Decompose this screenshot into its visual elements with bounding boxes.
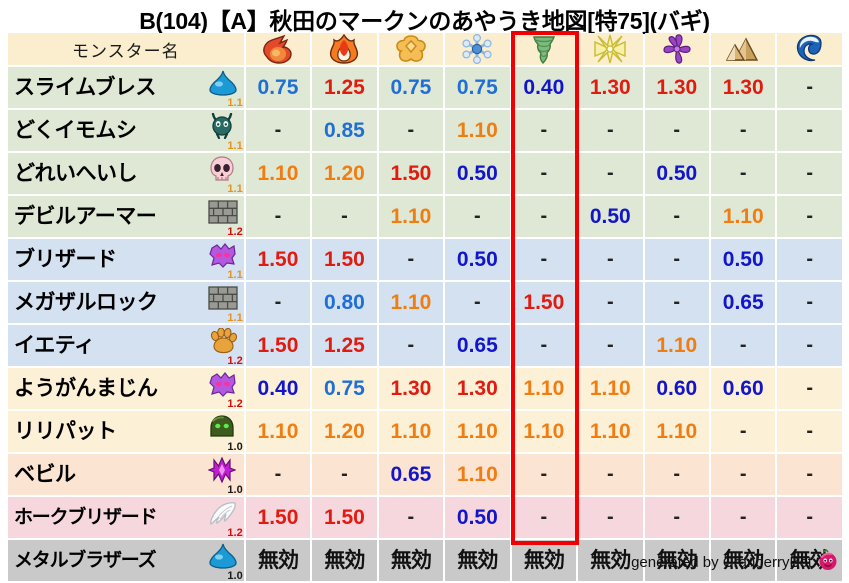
monster-name-label: イエティ	[14, 325, 95, 366]
column-header-jibaria[interactable]	[711, 33, 775, 65]
resistance-cell[interactable]: -	[578, 110, 642, 151]
resistance-cell[interactable]: 1.30	[578, 67, 642, 108]
table-row: ベビル1.0--0.651.10-----	[8, 454, 842, 495]
column-header-bagi[interactable]	[512, 33, 576, 65]
resistance-cell[interactable]: 1.10	[445, 110, 509, 151]
resistance-cell[interactable]: 1.30	[645, 67, 709, 108]
monster-family-icon-wrap: 1.0	[204, 542, 244, 580]
flame-icon	[312, 34, 376, 64]
monster-multiplier: 1.0	[227, 485, 242, 496]
monster-name-label: どれいへいし	[14, 153, 137, 194]
table-row: デビルアーマー1.2--1.10--0.50-1.10-	[8, 196, 842, 237]
resistance-cell[interactable]: 0.60	[645, 368, 709, 409]
resistance-cell[interactable]: 0.50	[578, 196, 642, 237]
resistance-cell[interactable]: -	[246, 454, 310, 495]
resistance-cell[interactable]: 0.75	[246, 67, 310, 108]
resistance-cell[interactable]: -	[578, 325, 642, 366]
monster-family-icon-wrap: 1.1	[204, 69, 244, 107]
resistance-cell[interactable]: -	[645, 454, 709, 495]
resistance-cell[interactable]: 0.65	[711, 282, 775, 323]
explosion-icon	[379, 34, 443, 64]
resistance-cell[interactable]: 0.50	[445, 153, 509, 194]
monster-name-cell[interactable]: イエティ1.2	[8, 325, 244, 366]
monster-name-cell[interactable]: ベビル1.0	[8, 454, 244, 495]
monster-multiplier: 1.2	[227, 227, 242, 238]
monster-name-label: デビルアーマー	[14, 196, 156, 237]
resistance-cell[interactable]: 0.50	[645, 153, 709, 194]
resistance-cell[interactable]: 0.75	[379, 67, 443, 108]
resistance-cell[interactable]: 1.10	[379, 411, 443, 452]
monster-name-label: リリパット	[14, 411, 117, 452]
resistance-cell[interactable]: -	[777, 110, 842, 151]
monster-name-cell[interactable]: スライムブレス1.1	[8, 67, 244, 108]
fireball-icon	[246, 34, 310, 64]
monster-name-label: ようがんまじん	[14, 368, 158, 409]
monster-name-cell[interactable]: ようがんまじん1.2	[8, 368, 244, 409]
resistance-cell[interactable]: -	[578, 282, 642, 323]
column-header-io[interactable]	[379, 33, 443, 65]
resistance-cell[interactable]: 1.50	[246, 497, 310, 538]
resistance-cell[interactable]: 無効	[445, 540, 509, 581]
monster-multiplier: 1.1	[227, 141, 242, 152]
resistance-cell[interactable]: -	[512, 325, 576, 366]
monster-name-label: ベビル	[14, 454, 76, 495]
resistance-cell[interactable]: 1.20	[312, 411, 376, 452]
snowflake-icon	[445, 34, 509, 64]
table-row: メガザルロック1.1-0.801.10-1.50--0.65-	[8, 282, 842, 323]
resistance-cell[interactable]: 1.50	[379, 153, 443, 194]
resistance-cell[interactable]: -	[445, 196, 509, 237]
resistance-cell[interactable]: -	[777, 325, 842, 366]
monster-name-cell[interactable]: どれいへいし1.1	[8, 153, 244, 194]
monster-family-icon-wrap: 1.2	[204, 499, 244, 537]
resistance-cell[interactable]: -	[512, 454, 576, 495]
resistance-cell[interactable]: 1.20	[312, 153, 376, 194]
resistance-cell[interactable]: -	[379, 497, 443, 538]
column-header-mera[interactable]	[246, 33, 310, 65]
resistance-cell[interactable]: -	[379, 110, 443, 151]
column-header-dein[interactable]	[578, 33, 642, 65]
table-row: イエティ1.21.501.25-0.65--1.10--	[8, 325, 842, 366]
resistance-cell[interactable]: -	[246, 110, 310, 151]
resistance-cell[interactable]: 0.50	[445, 239, 509, 280]
resistance-cell[interactable]: -	[645, 110, 709, 151]
resistance-cell[interactable]: -	[777, 497, 842, 538]
resistance-cell[interactable]: 1.10	[512, 411, 576, 452]
monster-name-cell[interactable]: ブリザード1.1	[8, 239, 244, 280]
resistance-cell[interactable]: -	[777, 239, 842, 280]
resistance-cell[interactable]: 1.10	[645, 411, 709, 452]
resistance-cell[interactable]: -	[246, 196, 310, 237]
resistance-cell[interactable]: -	[645, 497, 709, 538]
resistance-cell[interactable]: 1.10	[645, 325, 709, 366]
monster-multiplier: 1.0	[227, 442, 242, 453]
footer-text: generated by CranberryBot	[631, 554, 812, 571]
resistance-cell[interactable]: 0.75	[312, 368, 376, 409]
cranberry-mascot-icon	[817, 549, 839, 576]
monster-family-icon-wrap: 1.2	[204, 198, 244, 236]
resistance-cell[interactable]: -	[578, 454, 642, 495]
resistance-cell[interactable]: 無効	[379, 540, 443, 581]
column-header-hyado[interactable]	[445, 33, 509, 65]
resistance-cell[interactable]: -	[578, 153, 642, 194]
mountain-icon	[711, 35, 775, 63]
resistance-cell[interactable]: 1.10	[512, 368, 576, 409]
wave-icon	[777, 34, 842, 64]
resistance-cell[interactable]: -	[512, 110, 576, 151]
resistance-cell[interactable]: 無効	[512, 540, 576, 581]
resistance-cell[interactable]: 1.10	[711, 196, 775, 237]
monster-family-icon-wrap: 1.0	[204, 413, 244, 451]
monster-name-label: スライムブレス	[14, 67, 156, 108]
table-row: どくイモムシ1.1-0.85-1.10-----	[8, 110, 842, 151]
table-row: ホークブリザード1.21.501.50-0.50-----	[8, 497, 842, 538]
table-header-row: モンスター名	[8, 33, 842, 65]
resistance-cell[interactable]: -	[645, 196, 709, 237]
resistance-cell[interactable]: -	[379, 325, 443, 366]
resistance-cell[interactable]: -	[512, 196, 576, 237]
table-row: ブリザード1.11.501.50-0.50---0.50-	[8, 239, 842, 280]
monster-name-cell[interactable]: メガザルロック1.1	[8, 282, 244, 323]
resistance-cell[interactable]: 0.60	[711, 368, 775, 409]
pinwheel-icon	[645, 34, 709, 64]
monster-multiplier: 1.2	[227, 399, 242, 410]
resistance-cell[interactable]: -	[512, 153, 576, 194]
monster-name-cell[interactable]: リリパット1.0	[8, 411, 244, 452]
table-row: どれいへいし1.11.101.201.500.50--0.50--	[8, 153, 842, 194]
monster-name-label: どくイモムシ	[14, 110, 136, 151]
monster-multiplier: 1.1	[227, 313, 242, 324]
resistance-cell[interactable]: 1.10	[246, 153, 310, 194]
resistance-cell[interactable]: -	[711, 110, 775, 151]
resistance-cell[interactable]: -	[777, 454, 842, 495]
resistance-cell[interactable]: 1.50	[312, 239, 376, 280]
resistance-cell[interactable]: -	[645, 239, 709, 280]
monster-multiplier: 1.1	[227, 184, 242, 195]
resistance-cell[interactable]: 1.10	[578, 411, 642, 452]
resistance-cell[interactable]: 1.50	[312, 497, 376, 538]
monster-multiplier: 1.1	[227, 270, 242, 281]
resistance-cell[interactable]: 1.50	[512, 282, 576, 323]
resistance-cell[interactable]: -	[711, 153, 775, 194]
resistance-cell[interactable]: -	[379, 239, 443, 280]
column-header-wave[interactable]	[777, 33, 842, 65]
resistance-cell[interactable]: -	[645, 282, 709, 323]
resistance-cell[interactable]: 1.30	[379, 368, 443, 409]
resistance-cell[interactable]: 0.50	[711, 239, 775, 280]
table-body: スライムブレス1.10.751.250.750.750.401.301.301.…	[8, 67, 842, 581]
resistance-cell[interactable]: -	[578, 497, 642, 538]
monster-name-cell[interactable]: ホークブリザード1.2	[8, 497, 244, 538]
resistance-cell[interactable]: -	[777, 411, 842, 452]
column-header-gira[interactable]	[312, 33, 376, 65]
resistance-cell[interactable]: -	[777, 282, 842, 323]
resistance-cell[interactable]: 1.30	[445, 368, 509, 409]
monster-name-label: メタルブラザーズ	[14, 540, 155, 581]
resistance-cell[interactable]: 0.50	[445, 497, 509, 538]
resistance-cell[interactable]: 0.85	[312, 110, 376, 151]
monster-family-icon-wrap: 1.1	[204, 284, 244, 322]
monster-family-icon-wrap: 1.1	[204, 112, 244, 150]
column-header-doruma[interactable]	[645, 33, 709, 65]
resistance-cell[interactable]: -	[711, 325, 775, 366]
table-row: スライムブレス1.10.751.250.750.750.401.301.301.…	[8, 67, 842, 108]
resistance-cell[interactable]: -	[512, 497, 576, 538]
resistance-cell[interactable]: -	[777, 67, 842, 108]
resistance-cell[interactable]: -	[777, 368, 842, 409]
resistance-cell[interactable]: 1.25	[312, 67, 376, 108]
resistance-cell[interactable]: 1.10	[445, 411, 509, 452]
table-row: ようがんまじん1.20.400.751.301.301.101.100.600.…	[8, 368, 842, 409]
monster-family-icon-wrap: 1.1	[204, 155, 244, 193]
resistance-cell[interactable]: -	[777, 153, 842, 194]
resistance-cell[interactable]: 0.80	[312, 282, 376, 323]
monster-multiplier: 1.2	[227, 356, 242, 367]
resistance-cell[interactable]: -	[512, 239, 576, 280]
monster-family-icon-wrap: 1.0	[204, 456, 244, 494]
monster-multiplier: 1.1	[227, 98, 242, 109]
resistance-cell[interactable]: -	[312, 454, 376, 495]
resistance-cell[interactable]: 1.10	[246, 411, 310, 452]
resistance-cell[interactable]: 0.40	[512, 67, 576, 108]
monster-name-header: モンスター名	[8, 33, 244, 65]
resistance-cell[interactable]: -	[445, 282, 509, 323]
monster-family-icon-wrap: 1.2	[204, 370, 244, 408]
resistance-cell[interactable]: -	[711, 411, 775, 452]
resistance-cell[interactable]: 0.65	[379, 454, 443, 495]
monster-name-label: ホークブリザード	[14, 497, 156, 538]
resistance-cell[interactable]: 1.10	[445, 454, 509, 495]
resistance-cell[interactable]: 1.50	[246, 325, 310, 366]
resistance-cell[interactable]: -	[246, 282, 310, 323]
monster-name-cell[interactable]: デビルアーマー1.2	[8, 196, 244, 237]
resistance-cell[interactable]: 0.65	[445, 325, 509, 366]
resistance-cell[interactable]: 1.50	[246, 239, 310, 280]
resistance-cell[interactable]: 1.10	[578, 368, 642, 409]
resistance-cell[interactable]: 無効	[312, 540, 376, 581]
monster-resistance-page: B(104)【A】秋田のマークンのあやうき地図[特75](バギ) モンスター名	[0, 0, 849, 583]
table-row: リリパット1.01.101.201.101.101.101.101.10--	[8, 411, 842, 452]
star-icon	[578, 34, 642, 64]
monster-name-label: ブリザード	[14, 239, 117, 280]
resistance-cell[interactable]: 1.25	[312, 325, 376, 366]
monster-family-icon-wrap: 1.2	[204, 327, 244, 365]
tornado-icon	[512, 34, 576, 64]
resistance-cell[interactable]: -	[711, 497, 775, 538]
monster-multiplier: 1.2	[227, 528, 242, 539]
resistance-cell[interactable]: 0.75	[445, 67, 509, 108]
resistance-cell[interactable]: 1.10	[379, 282, 443, 323]
resistance-cell[interactable]: -	[312, 196, 376, 237]
resistance-cell[interactable]: 1.10	[379, 196, 443, 237]
resistance-table: モンスター名	[6, 31, 844, 583]
footer: generated by CranberryBot	[631, 549, 839, 576]
resistance-cell[interactable]: -	[578, 239, 642, 280]
monster-multiplier: 1.0	[227, 571, 242, 582]
resistance-cell[interactable]: 無効	[246, 540, 310, 581]
resistance-cell[interactable]: 0.40	[246, 368, 310, 409]
monster-name-cell[interactable]: メタルブラザーズ1.0	[8, 540, 244, 581]
monster-family-icon-wrap: 1.1	[204, 241, 244, 279]
resistance-cell[interactable]: 1.30	[711, 67, 775, 108]
monster-name-cell[interactable]: どくイモムシ1.1	[8, 110, 244, 151]
resistance-cell[interactable]: -	[711, 454, 775, 495]
monster-name-label: メガザルロック	[14, 282, 158, 323]
resistance-cell[interactable]: -	[777, 196, 842, 237]
